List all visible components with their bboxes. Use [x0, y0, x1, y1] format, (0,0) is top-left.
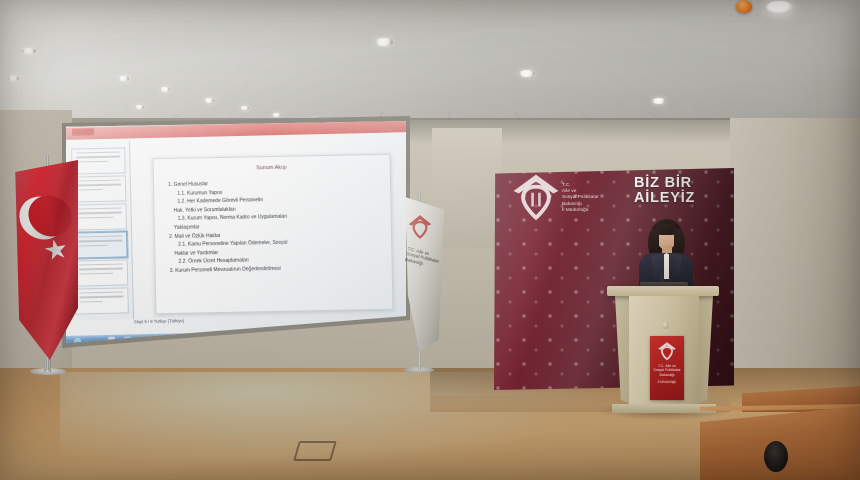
list-item[interactable] — [74, 287, 129, 314]
recessed-downlight-icon — [135, 105, 144, 109]
recessed-downlight-icon — [272, 113, 281, 117]
plaque-line: Bakanlığı — [652, 373, 682, 377]
recessed-downlight-icon — [204, 98, 214, 103]
slide-body: 1. Genel Hususlar 1.1. Kurumun Yapısı 1.… — [168, 177, 384, 276]
bright-spotlight-icon — [766, 1, 793, 14]
recessed-downlight-icon — [118, 76, 129, 81]
projection-screen: Sunum Akışı 1. Genel Hususlar 1.1. Kurum… — [66, 120, 406, 344]
recessed-downlight-icon — [8, 76, 19, 81]
recessed-downlight-icon — [22, 48, 36, 54]
list-item[interactable] — [73, 231, 128, 258]
slide-title: Sunum Akışı — [154, 163, 390, 174]
recessed-downlight-icon — [160, 87, 170, 92]
recessed-downlight-icon — [375, 38, 393, 46]
plaque-text: T.C. Aile ve Sosyal Politikalar Bakanlığ… — [652, 364, 682, 377]
ribbon-app-logo-icon — [72, 128, 94, 135]
plaque-subtext: İl Müdürlüğü — [652, 380, 682, 384]
list-item[interactable] — [71, 147, 126, 174]
recessed-downlight-icon — [652, 98, 666, 104]
family-house-logo-icon — [656, 340, 678, 362]
lectern-knob — [662, 322, 669, 329]
list-item[interactable] — [72, 175, 127, 202]
seat-cutout-hole — [764, 441, 788, 472]
floor-socket-hatch — [293, 441, 337, 461]
orange-dome-alarm-icon — [736, 0, 752, 13]
list-item[interactable] — [72, 203, 127, 230]
status-text: Slayt 6 / 9 Türkçe (Türkiye) — [134, 318, 184, 324]
recessed-downlight-icon — [240, 106, 249, 110]
conference-room-photograph: Sunum Akışı 1. Genel Hususlar 1.1. Kurum… — [0, 0, 860, 480]
list-item[interactable] — [74, 259, 129, 286]
active-slide[interactable]: Sunum Akışı 1. Genel Hususlar 1.1. Kurum… — [153, 154, 394, 315]
lectern-top — [607, 286, 719, 296]
recessed-downlight-icon — [519, 70, 535, 77]
